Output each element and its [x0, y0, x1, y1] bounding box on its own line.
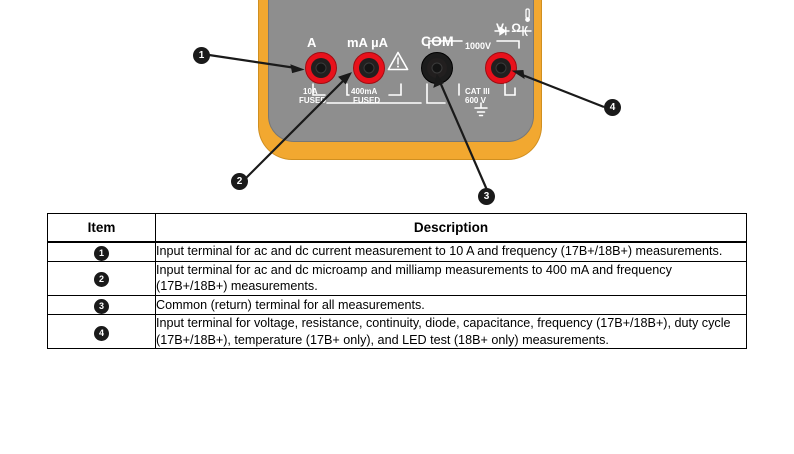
- fuse-10a-label-line1: 10A: [303, 88, 318, 96]
- item-badge-4: 4: [94, 326, 109, 341]
- table-row: 4 Input terminal for voltage, resistance…: [48, 314, 747, 348]
- header-item: Item: [48, 214, 156, 242]
- table-row: 1 Input terminal for ac and dc current m…: [48, 242, 747, 262]
- item-cell-3: 3: [48, 295, 156, 314]
- callout-marker-4: 4: [604, 99, 621, 116]
- description-cell-4: Input terminal for voltage, resistance, …: [156, 314, 747, 348]
- description-cell-2: Input terminal for ac and dc microamp an…: [156, 261, 747, 295]
- page-root: A mA µA COM 1000V V Ω: [0, 0, 794, 454]
- fuse-400ma-label-line2: FUSED: [353, 97, 380, 105]
- faceplate-bracket-lines: [269, 0, 534, 142]
- multimeter-body: A mA µA COM 1000V V Ω: [258, 0, 542, 160]
- cat-rating-label-line1: CAT III: [465, 88, 490, 96]
- item-cell-2: 2: [48, 261, 156, 295]
- fuse-400ma-label-line1: 400mA: [351, 88, 377, 96]
- multimeter-illustration: A mA µA COM 1000V V Ω: [0, 0, 794, 208]
- table-row: 2 Input terminal for ac and dc microamp …: [48, 261, 747, 295]
- table-body: 1 Input terminal for ac and dc current m…: [48, 242, 747, 349]
- callout-marker-1: 1: [193, 47, 210, 64]
- callout-marker-3: 3: [478, 188, 495, 205]
- callout-marker-2: 2: [231, 173, 248, 190]
- description-cell-3: Common (return) terminal for all measure…: [156, 295, 747, 314]
- item-badge-2: 2: [94, 272, 109, 287]
- description-cell-1: Input terminal for ac and dc current mea…: [156, 242, 747, 262]
- table-header-row: Item Description: [48, 214, 747, 242]
- item-cell-4: 4: [48, 314, 156, 348]
- cat-rating-label-line2: 600 V: [465, 97, 486, 105]
- item-badge-3: 3: [94, 299, 109, 314]
- terminal-description-table: Item Description 1 Input terminal for ac…: [47, 213, 747, 349]
- table-head: Item Description: [48, 214, 747, 242]
- fuse-10a-label-line2: FUSED: [299, 97, 326, 105]
- header-description: Description: [156, 214, 747, 242]
- multimeter-faceplate: A mA µA COM 1000V V Ω: [268, 0, 534, 142]
- item-cell-1: 1: [48, 242, 156, 262]
- item-badge-1: 1: [94, 246, 109, 261]
- table-row: 3 Common (return) terminal for all measu…: [48, 295, 747, 314]
